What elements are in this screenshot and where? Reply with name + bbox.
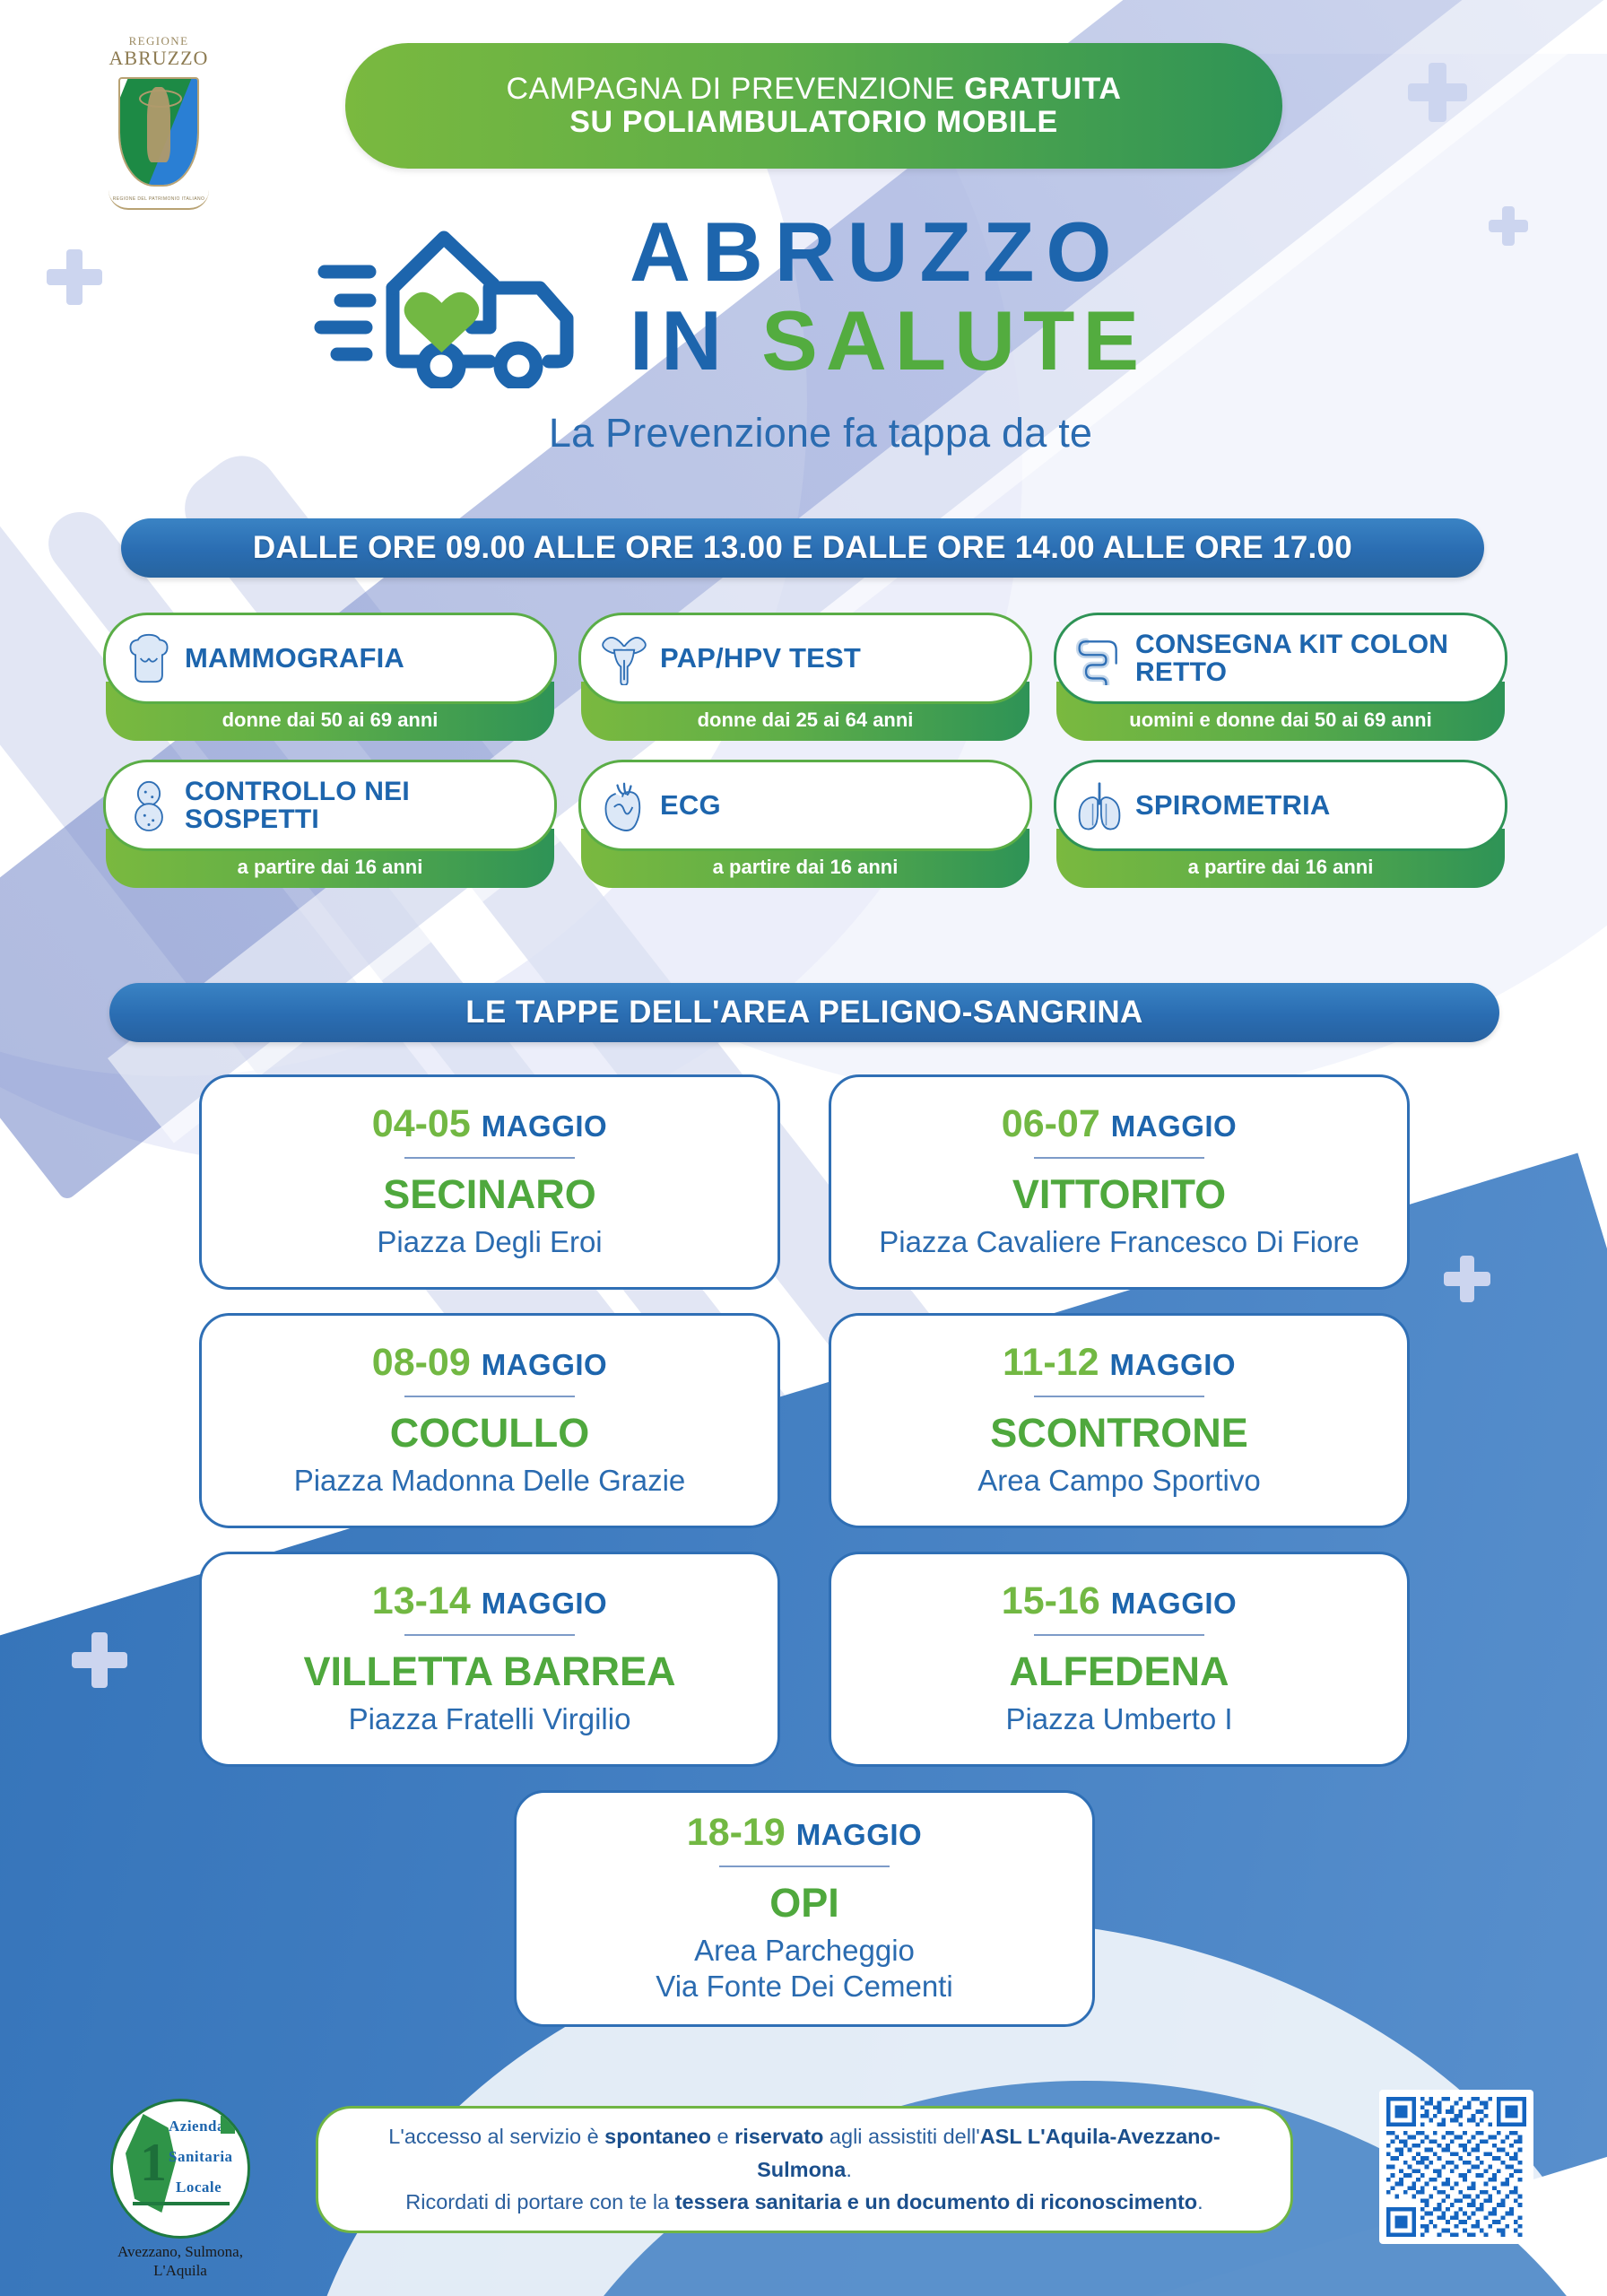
stop-venue: Piazza Fratelli Virgilio [349, 1701, 631, 1737]
service-card-head: SPIROMETRIA [1056, 762, 1505, 848]
footnote-line2: Ricordati di portare con te la tessera s… [405, 2186, 1203, 2218]
stop-dateline: 08-09 MAGGIO [372, 1343, 607, 1383]
asl-badge-icon: 1 Azienda Sanitaria Locale [110, 2099, 250, 2239]
footnote-line1: L'accesso al servizio è spontaneo e rise… [345, 2120, 1264, 2186]
brand-word-abruzzo: ABRUZZO [630, 211, 1147, 293]
footnote-l1-b: spontaneo [604, 2125, 711, 2148]
brand-tagline: La Prevenzione fa tappa da te [314, 410, 1327, 457]
service-eligibility-text: a partire dai 16 anni [713, 856, 899, 879]
footnote-l2-b: tessera sanitaria e un documento di rico… [675, 2190, 1197, 2213]
asl-subtitle-line1: Avezzano, Sulmona, [86, 2242, 274, 2261]
stop-divider [1034, 1396, 1204, 1397]
plus-cross-icon-4 [1444, 1256, 1490, 1302]
asl-subtitle: Avezzano, Sulmona, L'Aquila [86, 2242, 274, 2281]
asl-number: 1 [140, 2132, 167, 2194]
stop-month: MAGGIO [1111, 1109, 1238, 1143]
plus-cross-icon-3 [1489, 206, 1528, 246]
footnote-box: L'accesso al servizio è spontaneo e rise… [316, 2106, 1293, 2233]
stop-month: MAGGIO [796, 1818, 923, 1851]
stop-town: SCONTRONE [990, 1412, 1248, 1454]
asl-word-locale: Locale [176, 2179, 222, 2196]
stops-grid: 04-05 MAGGIO SECINARO Piazza Degli Eroi … [199, 1074, 1410, 2050]
stops-section-title-text: LE TAPPE DELL'AREA PELIGNO-SANGRINA [465, 995, 1142, 1031]
opening-hours-banner: DALLE ORE 09.00 ALLE ORE 13.00 E DALLE O… [121, 518, 1484, 578]
stop-venue: Piazza Degli Eroi [377, 1224, 602, 1260]
asl-logo: 1 Azienda Sanitaria Locale Avezzano, Sul… [86, 2099, 274, 2281]
poster: REGIONE ABRUZZO REGIONE DEL PATRIMONIO I… [0, 0, 1607, 2296]
regione-coat-of-arms-icon [118, 77, 199, 187]
stops-row-2: 08-09 MAGGIO COCULLO Piazza Madonna Dell… [199, 1313, 1410, 1528]
footnote-l1-a: L'accesso al servizio è [388, 2125, 604, 2148]
footnote-l1-g: . [846, 2158, 852, 2181]
service-card-head: PAP/HPV TEST [581, 615, 1029, 701]
stop-card-scontrone[interactable]: 11-12 MAGGIO SCONTRONE Area Campo Sporti… [829, 1313, 1410, 1528]
asl-subtitle-line2: L'Aquila [86, 2261, 274, 2280]
heart-icon [597, 777, 651, 834]
service-card-spirometria: SPIROMETRIA a partire dai 16 anni [1056, 762, 1505, 888]
service-name: CONTROLLO NEI SOSPETTI [185, 778, 538, 833]
service-name: MAMMOGRAFIA [185, 644, 404, 673]
stop-dateline: 11-12 MAGGIO [1003, 1343, 1236, 1383]
stop-divider [404, 1396, 575, 1397]
service-card-consegna-kit-colon-retto: CONSEGNA KIT COLON RETTO uomini e donne … [1056, 615, 1505, 741]
stop-divider [1034, 1634, 1204, 1636]
stop-card-cocullo[interactable]: 08-09 MAGGIO COCULLO Piazza Madonna Dell… [199, 1313, 780, 1528]
service-eligibility-text: a partire dai 16 anni [1188, 856, 1374, 879]
stop-venue: Area Parcheggio Via Fonte Dei Cementi [656, 1933, 952, 2004]
asl-divider-bar [133, 2202, 230, 2205]
campaign-header-banner: CAMPAGNA DI PREVENZIONE GRATUITA SU POLI… [345, 43, 1282, 169]
brand-word-in: IN [630, 293, 761, 387]
stop-dateline: 13-14 MAGGIO [372, 1581, 607, 1622]
regione-abruzzo-logo: REGIONE ABRUZZO REGIONE DEL PATRIMONIO I… [100, 34, 217, 210]
stop-month: MAGGIO [1111, 1587, 1238, 1620]
stop-venue: Piazza Madonna Delle Grazie [294, 1463, 686, 1499]
stop-month: MAGGIO [482, 1109, 608, 1143]
opening-hours-text: DALLE ORE 09.00 ALLE ORE 13.00 E DALLE O… [253, 530, 1352, 566]
service-card-head: ECG [581, 762, 1029, 848]
stop-card-villetta-barrea[interactable]: 13-14 MAGGIO VILLETTA BARREA Piazza Frat… [199, 1552, 780, 1767]
stop-town: VITTORITO [1012, 1173, 1226, 1215]
regione-logo-ribbon: REGIONE DEL PATRIMONIO ITALIANO [109, 190, 209, 210]
service-eligibility-text: a partire dai 16 anni [238, 856, 423, 879]
stop-venue: Area Campo Sportivo [977, 1463, 1260, 1499]
stop-dateline: 06-07 MAGGIO [1002, 1104, 1237, 1144]
stop-divider [404, 1634, 575, 1636]
stop-dateline: 15-16 MAGGIO [1002, 1581, 1237, 1622]
campaign-header-line1: CAMPAGNA DI PREVENZIONE GRATUITA [506, 73, 1121, 106]
stop-dates: 13-14 [372, 1579, 471, 1622]
brand-word-in-salute: IN SALUTE [630, 299, 1147, 383]
stop-dates: 18-19 [687, 1811, 786, 1854]
service-card-head: MAMMOGRAFIA [106, 615, 554, 701]
stop-town: VILLETTA BARREA [304, 1650, 676, 1692]
stop-month: MAGGIO [482, 1587, 608, 1620]
uterus-icon [597, 630, 651, 687]
colon-icon [1073, 630, 1126, 687]
stop-month: MAGGIO [1110, 1348, 1237, 1381]
footnote-l2-c: . [1197, 2190, 1203, 2213]
service-card-mammografia: MAMMOGRAFIA donne dai 50 ai 69 anni [106, 615, 554, 741]
stop-venue-line2: Via Fonte Dei Cementi [656, 1969, 952, 2005]
service-name: ECG [660, 791, 721, 820]
services-row-1: MAMMOGRAFIA donne dai 50 ai 69 anni [106, 615, 1505, 741]
service-card-head: CONSEGNA KIT COLON RETTO [1056, 615, 1505, 701]
campaign-header-line2: SU POLIAMBULATORIO MOBILE [569, 105, 1058, 139]
asl-word-sanitaria: Sanitaria [169, 2148, 233, 2166]
mobile-clinic-van-icon [314, 218, 610, 388]
campaign-header-line1-plain: CAMPAGNA DI PREVENZIONE [506, 72, 964, 106]
brand-logo: ABRUZZO IN SALUTE La Prevenzione fa tapp… [314, 202, 1327, 444]
stop-dates: 15-16 [1002, 1579, 1100, 1622]
stop-month: MAGGIO [482, 1348, 608, 1381]
stops-row-4: 18-19 MAGGIO OPI Area Parcheggio Via Fon… [199, 1790, 1410, 2027]
service-name: PAP/HPV TEST [660, 644, 861, 673]
stop-venue: Piazza Cavaliere Francesco Di Fiore [879, 1224, 1359, 1260]
regione-logo-line2: ABRUZZO [100, 47, 217, 70]
service-eligibility-text: donne dai 50 ai 69 anni [222, 709, 439, 732]
service-card-controllo-nei-sospetti: CONTROLLO NEI SOSPETTI a partire dai 16 … [106, 762, 554, 888]
service-name: CONSEGNA KIT COLON RETTO [1135, 631, 1489, 686]
stop-divider [1034, 1157, 1204, 1159]
plus-cross-icon-1 [47, 249, 102, 305]
qr-code-image [1386, 2097, 1526, 2237]
stop-town: ALFEDENA [1010, 1650, 1229, 1692]
stop-dates: 11-12 [1003, 1341, 1099, 1384]
service-card-ecg: ECG a partire dai 16 anni [581, 762, 1029, 888]
campaign-header-line1-bold: GRATUITA [964, 72, 1121, 106]
stop-dates: 06-07 [1002, 1102, 1100, 1145]
stop-dates: 04-05 [372, 1102, 471, 1145]
stop-divider [404, 1157, 575, 1159]
stop-card-secinaro[interactable]: 04-05 MAGGIO SECINARO Piazza Degli Eroi [199, 1074, 780, 1290]
footnote-l1-c: e [711, 2125, 734, 2148]
service-eligibility-text: uomini e donne dai 50 ai 69 anni [1129, 709, 1431, 732]
stop-town: COCULLO [390, 1412, 589, 1454]
service-card-head: CONTROLLO NEI SOSPETTI [106, 762, 554, 848]
service-name: SPIROMETRIA [1135, 791, 1331, 820]
stop-town: SECINARO [383, 1173, 596, 1215]
footnote-l1-d: riservato [734, 2125, 823, 2148]
stop-town: OPI [769, 1882, 839, 1924]
footnote-l1-e: agli assistiti dell' [823, 2125, 979, 2148]
stops-section-title-banner: LE TAPPE DELL'AREA PELIGNO-SANGRINA [109, 983, 1499, 1042]
service-eligibility-text: donne dai 25 ai 64 anni [698, 709, 914, 732]
stop-dates: 08-09 [372, 1341, 471, 1384]
service-card-pap-hpv-test: PAP/HPV TEST donne dai 25 ai 64 anni [581, 615, 1029, 741]
services-row-2: CONTROLLO NEI SOSPETTI a partire dai 16 … [106, 762, 1505, 888]
plus-cross-icon-2 [1408, 63, 1467, 122]
breast-icon [122, 630, 176, 687]
brand-word-salute: SALUTE [761, 293, 1147, 387]
services-grid: MAMMOGRAFIA donne dai 50 ai 69 anni [106, 615, 1505, 909]
stop-card-opi[interactable]: 18-19 MAGGIO OPI Area Parcheggio Via Fon… [514, 1790, 1095, 2027]
stops-row-3: 13-14 MAGGIO VILLETTA BARREA Piazza Frat… [199, 1552, 1410, 1767]
brand-wordmark: ABRUZZO IN SALUTE [630, 211, 1147, 383]
skin-mole-icon [122, 777, 176, 834]
stop-card-vittorito[interactable]: 06-07 MAGGIO VITTORITO Piazza Cavaliere … [829, 1074, 1410, 1290]
stop-card-alfedena[interactable]: 15-16 MAGGIO ALFEDENA Piazza Umberto I [829, 1552, 1410, 1767]
stop-venue-line1: Area Parcheggio [656, 1933, 952, 1969]
stop-divider [719, 1865, 890, 1867]
qr-code[interactable] [1379, 2090, 1533, 2244]
lungs-icon [1073, 777, 1126, 834]
asl-flag-icon [221, 2116, 235, 2134]
stop-dateline: 04-05 MAGGIO [372, 1104, 607, 1144]
stops-row-1: 04-05 MAGGIO SECINARO Piazza Degli Eroi … [199, 1074, 1410, 1290]
stop-venue: Piazza Umberto I [1005, 1701, 1232, 1737]
stop-dateline: 18-19 MAGGIO [687, 1813, 922, 1853]
asl-word-azienda: Azienda [169, 2118, 225, 2135]
plus-cross-icon-5 [72, 1632, 127, 1688]
footnote-l2-a: Ricordati di portare con te la [405, 2190, 674, 2213]
